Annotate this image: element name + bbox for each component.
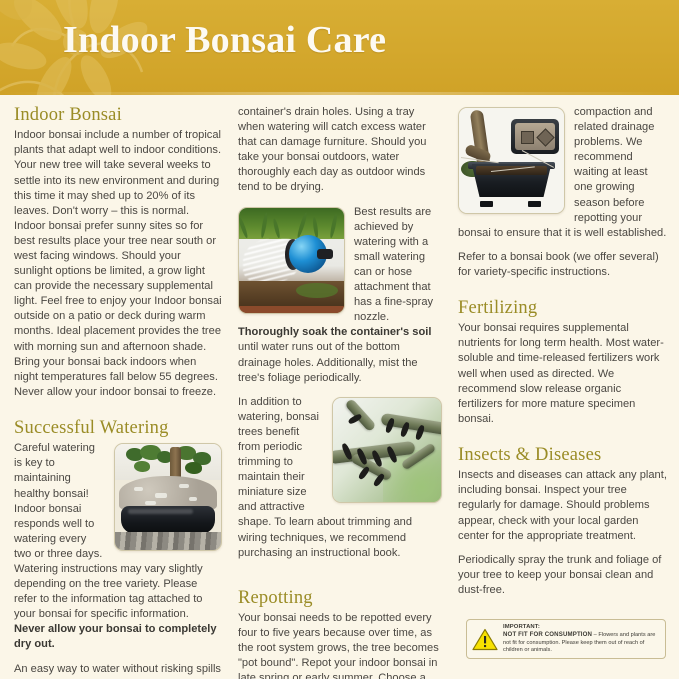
section-heading-repotting: Repotting <box>238 588 442 609</box>
repotting-pot-diagram-photo <box>458 107 565 214</box>
bonsai-in-pot-photo <box>114 443 222 551</box>
paragraph-indoor-bonsai: Indoor bonsai include a number of tropic… <box>14 128 222 400</box>
page-title: Indoor Bonsai Care <box>63 18 386 62</box>
section-heading-fertilizing: Fertilizing <box>458 298 667 319</box>
important-warning-box: IMPORTANT:NOT FIT FOR CONSUMPTION – Flow… <box>466 619 666 659</box>
warning-line-1: IMPORTANT: <box>503 624 660 631</box>
page-header: Indoor Bonsai Care <box>0 0 679 95</box>
warning-line-2-bold: NOT FIT FOR CONSUMPTION <box>503 631 592 638</box>
section-heading-indoor-bonsai: Indoor Bonsai <box>14 105 222 126</box>
best-results-tail: until water runs out of the bottom drain… <box>238 341 418 383</box>
best-results-lead: Best results are achieved by watering wi… <box>354 206 433 324</box>
three-column-layout: Indoor Bonsai Indoor bonsai include a nu… <box>14 105 667 679</box>
warning-triangle-icon <box>472 628 498 651</box>
paragraph-spray-trunk: Periodically spray the trunk and foliage… <box>458 553 667 598</box>
section-heading-successful-watering: Successful Watering <box>14 418 222 439</box>
paragraph-drain-holes: container's drain holes. Using a tray wh… <box>238 105 442 196</box>
warning-text: IMPORTANT:NOT FIT FOR CONSUMPTION – Flow… <box>503 624 660 655</box>
column-3: compaction and related drainage problems… <box>458 105 667 679</box>
column-2: container's drain holes. Using a tray wh… <box>238 105 442 679</box>
paragraph-fertilizing: Your bonsai requires supplemental nutrie… <box>458 321 667 427</box>
content-area: Indoor Bonsai Indoor bonsai include a nu… <box>0 95 679 679</box>
soak-soil-bold: Thoroughly soak the container's soil <box>238 326 431 338</box>
paragraph-refer-book: Refer to a bonsai book (we offer several… <box>458 250 667 280</box>
watering-bold-warning: Never allow your bonsai to completely dr… <box>14 623 217 650</box>
column-1: Indoor Bonsai Indoor bonsai include a nu… <box>14 105 222 679</box>
bonsai-care-page: Indoor Bonsai Care Indoor Bonsai Indoor … <box>0 0 679 679</box>
wired-branches-photo <box>332 397 442 503</box>
paragraph-repotting: Your bonsai needs to be repotted every f… <box>238 611 442 679</box>
paragraph-insects: Insects and diseases can attack any plan… <box>458 468 667 543</box>
section-heading-insects-diseases: Insects & Diseases <box>458 445 667 466</box>
spray-nozzle-watering-photo <box>238 207 345 314</box>
paragraph-watering-tray: An easy way to water without risking spi… <box>14 662 222 679</box>
